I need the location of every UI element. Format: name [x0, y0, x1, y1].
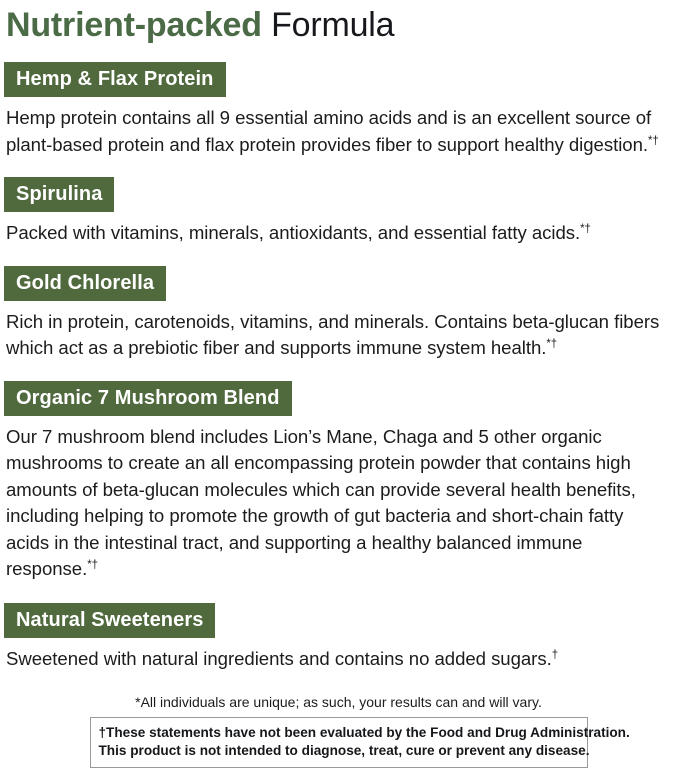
section-body-spirulina: Packed with vitamins, minerals, antioxid… — [2, 212, 675, 247]
footnote-marker: *† — [87, 559, 98, 571]
section-badge-organic-7-mushroom-blend: Organic 7 Mushroom Blend — [4, 381, 292, 416]
section-natural-sweeteners: Natural Sweeteners Sweetened with natura… — [2, 603, 675, 673]
section-body-text: Our 7 mushroom blend includes Lion’s Man… — [6, 426, 636, 580]
fda-disclaimer-line-2: This product is not intended to diagnose… — [99, 742, 579, 760]
footnote-marker: † — [552, 648, 558, 660]
section-spirulina: Spirulina Packed with vitamins, minerals… — [2, 177, 675, 247]
section-body-text: Rich in protein, carotenoids, vitamins, … — [6, 311, 659, 359]
section-body-text: Sweetened with natural ingredients and c… — [6, 648, 552, 669]
section-organic-7-mushroom-blend: Organic 7 Mushroom Blend Our 7 mushroom … — [2, 381, 675, 583]
section-badge-spirulina: Spirulina — [4, 177, 114, 212]
footnote-marker: *† — [546, 338, 557, 350]
section-body-natural-sweeteners: Sweetened with natural ingredients and c… — [2, 638, 675, 673]
footnotes: *All individuals are unique; as such, yo… — [2, 693, 675, 768]
footnote-marker: *† — [580, 223, 591, 235]
section-body-gold-chlorella: Rich in protein, carotenoids, vitamins, … — [2, 301, 675, 362]
section-body-hemp-flax-protein: Hemp protein contains all 9 essential am… — [2, 97, 675, 158]
section-body-text: Hemp protein contains all 9 essential am… — [6, 107, 651, 155]
page-title: Nutrient-packed Formula — [2, 0, 675, 46]
page-title-accent: Nutrient-packed — [6, 6, 262, 44]
nutrient-formula-panel: Nutrient-packed Formula Hemp & Flax Prot… — [0, 0, 679, 733]
section-badge-gold-chlorella: Gold Chlorella — [4, 266, 166, 301]
section-body-organic-7-mushroom-blend: Our 7 mushroom blend includes Lion’s Man… — [2, 416, 675, 583]
footnote-marker: *† — [648, 134, 659, 146]
section-body-text: Packed with vitamins, minerals, antioxid… — [6, 222, 580, 243]
section-gold-chlorella: Gold Chlorella Rich in protein, caroteno… — [2, 266, 675, 362]
section-badge-natural-sweeteners: Natural Sweeteners — [4, 603, 215, 638]
section-badge-hemp-flax-protein: Hemp & Flax Protein — [4, 62, 226, 97]
footnote-asterisk-note: *All individuals are unique; as such, yo… — [2, 693, 675, 711]
fda-disclaimer-line-1: †These statements have not been evaluate… — [99, 724, 579, 742]
fda-disclaimer-box: †These statements have not been evaluate… — [90, 717, 588, 768]
page-title-rest: Formula — [262, 6, 395, 44]
section-hemp-flax-protein: Hemp & Flax Protein Hemp protein contain… — [2, 62, 675, 158]
